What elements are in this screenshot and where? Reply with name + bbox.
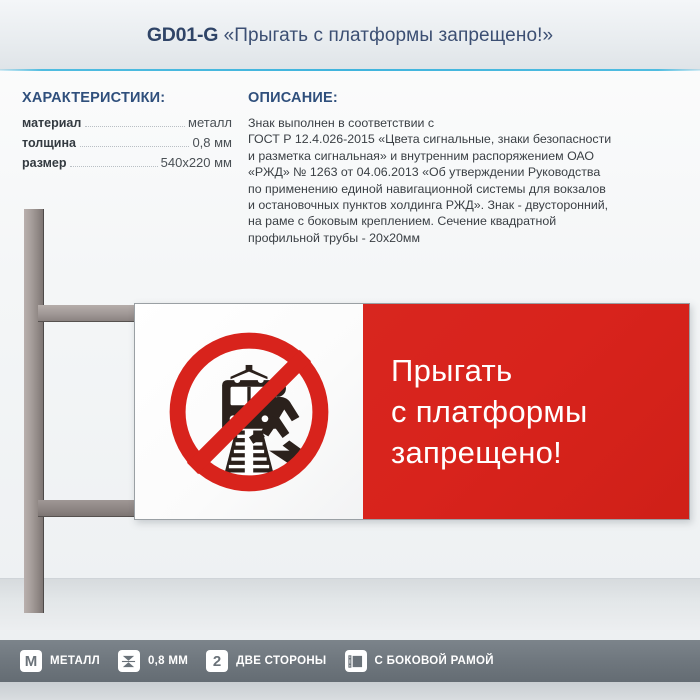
- header-divider: [0, 69, 700, 71]
- side-frame-icon: [345, 650, 367, 672]
- characteristics-heading: ХАРАКТЕРИСТИКИ:: [22, 90, 232, 106]
- product-code: GD01-G: [147, 24, 218, 46]
- spec-label: материал: [22, 116, 81, 130]
- description-line: и остановочных пунктов холдинга РЖД». Зн…: [248, 197, 690, 213]
- page-title: GD01-G «Прыгать с платформы запрещено!»: [147, 24, 553, 47]
- spec-row-size: размер 540x220 мм: [22, 155, 232, 170]
- metal-icon-glyph: M: [25, 654, 38, 669]
- description-body: Знак выполнен в соответствии с ГОСТ Р 12…: [248, 115, 690, 246]
- spec-value: 540x220 мм: [161, 155, 232, 170]
- footer-item-thickness: 0,8 ММ: [118, 650, 188, 672]
- spec-value: 0,8 мм: [192, 135, 232, 150]
- sign-text-line: запрещено!: [391, 432, 689, 473]
- footer-label: 0,8 ММ: [148, 655, 188, 667]
- footer-label: С БОКОВОЙ РАМОЙ: [375, 655, 494, 667]
- header-title-wrap: GD01-G «Прыгать с платформы запрещено!»: [0, 0, 700, 70]
- no-jumping-from-platform-pictogram: [165, 328, 333, 496]
- description-line: Знак выполнен в соответствии с: [248, 115, 690, 131]
- footer-label: МЕТАЛЛ: [50, 655, 100, 667]
- footer-label: ДВЕ СТОРОНЫ: [236, 655, 326, 667]
- sign-panel: Прыгать с платформы запрещено!: [134, 303, 690, 520]
- footer-item-two-sides: 2 ДВЕ СТОРОНЫ: [206, 650, 326, 672]
- two-sides-icon-glyph: 2: [213, 654, 221, 669]
- footer-item-side-frame: С БОКОВОЙ РАМОЙ: [345, 650, 494, 672]
- spec-label: размер: [22, 156, 66, 170]
- spec-value: металл: [188, 115, 232, 130]
- sign-text-area: Прыгать с платформы запрещено!: [363, 304, 689, 519]
- two-sides-icon: 2: [206, 650, 228, 672]
- spec-row-thickness: толщина 0,8 мм: [22, 135, 232, 150]
- footer-spec-bar: M МЕТАЛЛ 0,8 ММ 2 ДВЕ СТОРОНЫ: [0, 640, 700, 682]
- side-frame-icon-glyph: [348, 654, 363, 669]
- spec-label: толщина: [22, 136, 76, 150]
- metal-icon: M: [20, 650, 42, 672]
- footer-item-metal: M МЕТАЛЛ: [20, 650, 100, 672]
- thickness-icon: [118, 650, 140, 672]
- spec-dot-leader: [85, 126, 185, 127]
- thickness-icon-glyph: [121, 654, 136, 669]
- spec-dot-leader: [80, 146, 189, 147]
- description-line: по применению единой навигационной систе…: [248, 181, 690, 197]
- characteristics-block: ХАРАКТЕРИСТИКИ: материал металл толщина …: [22, 90, 232, 175]
- description-line: «РЖД» № 1263 от 04.06.2013 «Об утвержден…: [248, 164, 690, 180]
- info-area: ХАРАКТЕРИСТИКИ: материал металл толщина …: [0, 72, 700, 282]
- description-line: и разметка сигнальная» и внутренним расп…: [248, 148, 690, 164]
- product-title: «Прыгать с платформы запрещено!»: [224, 25, 554, 46]
- description-line: ГОСТ Р 12.4.026-2015 «Цвета сигнальные, …: [248, 131, 690, 147]
- footer-baseline: [0, 682, 700, 700]
- mounting-arm-bottom: [38, 500, 144, 517]
- scene-floor: [0, 578, 700, 630]
- mounting-pole: [24, 209, 44, 613]
- description-block: ОПИСАНИЕ: Знак выполнен в соответствии с…: [248, 90, 690, 246]
- header-bar: GD01-G «Прыгать с платформы запрещено!»: [0, 0, 700, 70]
- sign-text-line: с платформы: [391, 391, 689, 432]
- sign-pictogram-area: [135, 304, 363, 519]
- mounting-arm-top: [38, 305, 144, 322]
- spec-dot-leader: [70, 166, 157, 167]
- scene-floor-edge: [0, 578, 700, 579]
- product-card: GD01-G «Прыгать с платформы запрещено!» …: [0, 0, 700, 700]
- description-line: профильной трубы - 20x20мм: [248, 230, 690, 246]
- spec-row-material: материал металл: [22, 115, 232, 130]
- sign-text-line: Прыгать: [391, 350, 689, 391]
- description-line: на раме с боковым креплением. Сечение кв…: [248, 213, 690, 229]
- description-heading: ОПИСАНИЕ:: [248, 90, 690, 106]
